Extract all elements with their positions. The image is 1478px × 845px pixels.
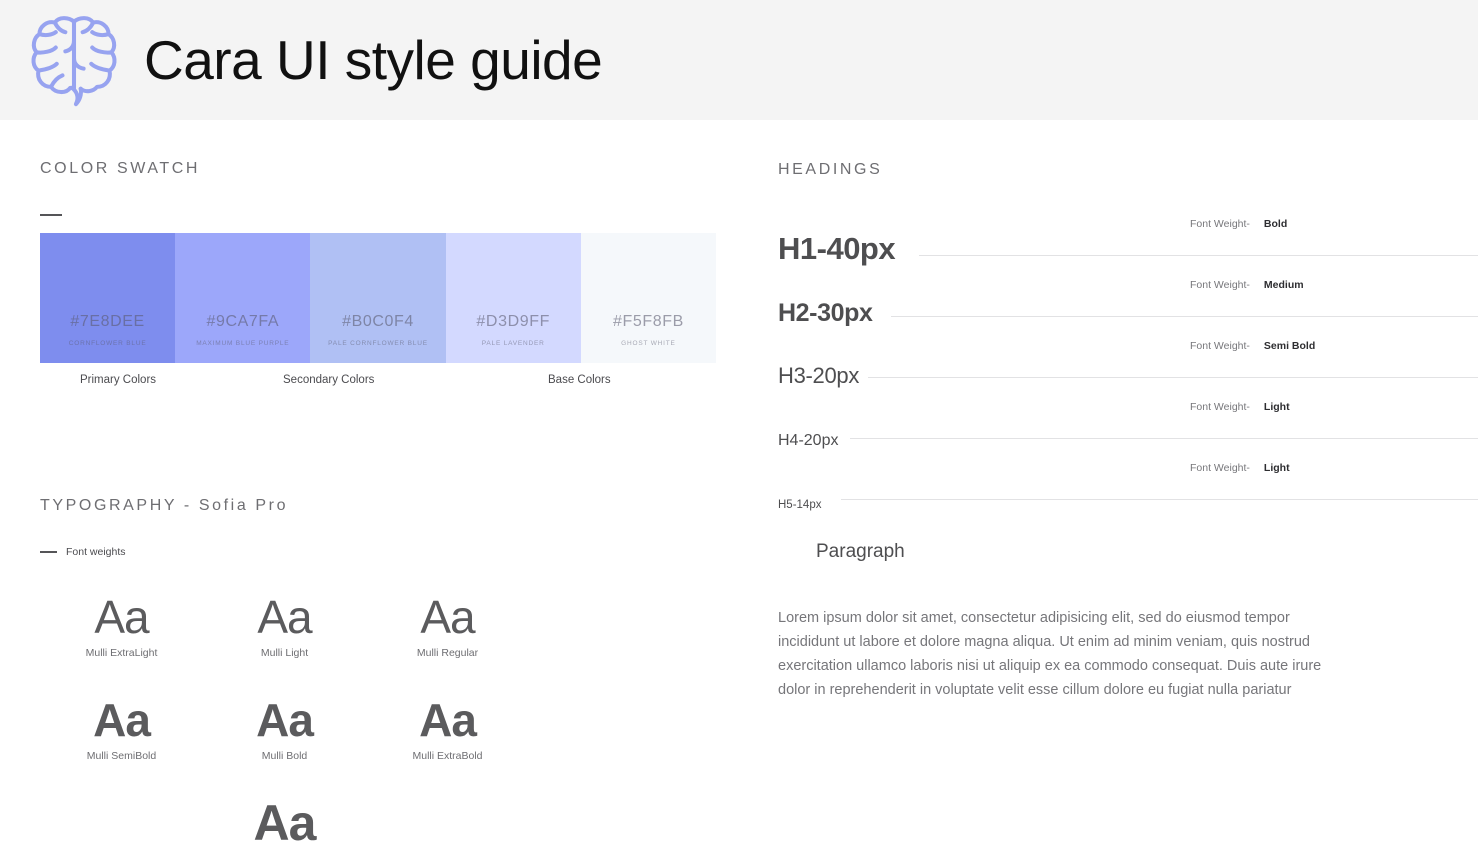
page-title: Cara UI style guide <box>144 33 602 88</box>
heading-row: H5-14px Font Weight- Light <box>778 454 1478 515</box>
font-weight-key: Font Weight- <box>1190 401 1250 413</box>
typography-section: TYPOGRAPHY - Sofia Pro Font weights Aa M… <box>40 497 680 845</box>
font-specimen-grid: Aa Mulli ExtraLight Aa Mulli Light Aa Mu… <box>40 582 680 845</box>
heading-label: H2-30px <box>778 299 872 328</box>
heading-weight-meta: Font Weight- Bold <box>1190 218 1287 230</box>
color-group-labels: Primary Colors Secondary Colors Base Col… <box>40 374 716 400</box>
specimen-sample: Aa <box>40 594 203 641</box>
typography-title: TYPOGRAPHY - Sofia Pro <box>40 497 680 515</box>
font-specimen-row: Aa Mulli SemiBold Aa Mulli Bold Aa Mulli… <box>40 685 680 762</box>
color-group-label: Primary Colors <box>80 374 156 386</box>
font-weight-key: Font Weight- <box>1190 462 1250 474</box>
heading-row: H4-20px Font Weight- Light <box>778 393 1478 454</box>
color-group-label: Base Colors <box>548 374 611 386</box>
color-swatch-section: COLOR SWATCH #7E8DEE CORNFLOWER BLUE #9C… <box>40 160 716 400</box>
font-weights-legend: Font weights <box>40 546 680 558</box>
swatch-color-name: PALE CORNFLOWER BLUE <box>328 340 428 347</box>
specimen-label: Mulli SemiBold <box>40 750 203 762</box>
font-weight-value: Light <box>1264 462 1290 474</box>
heading-divider <box>919 255 1478 256</box>
font-specimen: Aa Mulli SemiBold <box>40 685 203 762</box>
heading-divider <box>850 438 1478 439</box>
specimen-label: Mulli Regular <box>366 647 529 659</box>
heading-weight-meta: Font Weight- Light <box>1190 462 1290 474</box>
section-dash <box>40 214 62 216</box>
legend-dash <box>40 551 57 553</box>
heading-label: H1-40px <box>778 231 895 267</box>
specimen-label: Mulli ExtraLight <box>40 647 203 659</box>
font-specimen: Aa Mulli ExtraLight <box>40 582 203 659</box>
left-column: COLOR SWATCH #7E8DEE CORNFLOWER BLUE #9C… <box>0 120 770 845</box>
swatch-hex-value: #7E8DEE <box>70 313 144 331</box>
heading-divider <box>868 377 1478 378</box>
specimen-sample: Aa <box>203 798 366 845</box>
font-weights-label: Font weights <box>66 546 126 558</box>
right-column: HEADINGS H1-40px Font Weight- Bold H2-30… <box>770 120 1478 845</box>
font-specimen: Aa Mulli Regular <box>366 582 529 659</box>
heading-weight-meta: Font Weight- Light <box>1190 401 1290 413</box>
specimen-sample: Aa <box>203 594 366 641</box>
specimen-label: Mulli Bold <box>203 750 366 762</box>
headings-section: HEADINGS H1-40px Font Weight- Bold H2-30… <box>778 161 1478 515</box>
color-swatch-item[interactable]: #7E8DEE CORNFLOWER BLUE <box>40 233 175 363</box>
swatch-hex-value: #B0C0F4 <box>342 313 414 331</box>
color-swatch-title: COLOR SWATCH <box>40 160 716 178</box>
heading-row: H3-20px Font Weight- Semi Bold <box>778 332 1478 393</box>
swatch-hex-value: #D3D9FF <box>476 313 550 331</box>
font-weight-key: Font Weight- <box>1190 279 1250 291</box>
color-swatch-item[interactable]: #D3D9FF PALE LAVENDER <box>446 233 581 363</box>
specimen-sample: Aa <box>40 697 203 744</box>
specimen-sample: Aa <box>366 594 529 641</box>
specimen-label: Mulli Light <box>203 647 366 659</box>
font-specimen: Aa Mulli ExtraBold <box>366 685 529 762</box>
heading-weight-meta: Font Weight- Semi Bold <box>1190 340 1315 352</box>
paragraph-body: Lorem ipsum dolor sit amet, consectetur … <box>778 606 1330 702</box>
font-weight-value: Semi Bold <box>1264 340 1315 352</box>
brain-icon <box>26 12 122 108</box>
heading-label: H4-20px <box>778 432 838 450</box>
font-weight-key: Font Weight- <box>1190 340 1250 352</box>
page-header: Cara UI style guide <box>0 0 1478 120</box>
font-specimen: Aa Mulli Bold <box>203 685 366 762</box>
heading-label: H5-14px <box>778 499 821 511</box>
heading-divider <box>841 499 1478 500</box>
font-weight-key: Font Weight- <box>1190 218 1250 230</box>
swatch-color-name: CORNFLOWER BLUE <box>69 340 147 347</box>
swatch-hex-value: #9CA7FA <box>206 313 279 331</box>
heading-label: H3-20px <box>778 363 859 389</box>
page-body: COLOR SWATCH #7E8DEE CORNFLOWER BLUE #9C… <box>0 120 1478 845</box>
heading-row: H2-30px Font Weight- Medium <box>778 271 1478 332</box>
heading-divider <box>891 316 1478 317</box>
swatch-color-name: PALE LAVENDER <box>482 340 545 347</box>
specimen-sample: Aa <box>203 697 366 744</box>
paragraph-section: Paragraph Lorem ipsum dolor sit amet, co… <box>778 541 1478 702</box>
font-specimen-row: Aa Mulli ExtraLight Aa Mulli Light Aa Mu… <box>40 582 680 659</box>
font-weight-value: Bold <box>1264 218 1287 230</box>
color-swatch-item[interactable]: #B0C0F4 PALE CORNFLOWER BLUE <box>310 233 445 363</box>
font-weight-value: Light <box>1264 401 1290 413</box>
font-specimen-row: Aa <box>40 786 680 845</box>
color-swatch-item[interactable]: #F5F8FB GHOST WHITE <box>581 233 716 363</box>
font-specimen: Aa Mulli Light <box>203 582 366 659</box>
color-swatch-row: #7E8DEE CORNFLOWER BLUE #9CA7FA MAXIMUM … <box>40 233 716 363</box>
heading-rows: H1-40px Font Weight- Bold H2-30px Font W… <box>778 210 1478 515</box>
paragraph-title: Paragraph <box>778 541 1478 563</box>
specimen-label: Mulli ExtraBold <box>366 750 529 762</box>
heading-row: H1-40px Font Weight- Bold <box>778 210 1478 271</box>
specimen-sample: Aa <box>366 697 529 744</box>
color-swatch-item[interactable]: #9CA7FA MAXIMUM BLUE PURPLE <box>175 233 310 363</box>
font-weight-value: Medium <box>1264 279 1304 291</box>
color-group-label: Secondary Colors <box>283 374 374 386</box>
headings-title: HEADINGS <box>778 161 1478 179</box>
swatch-color-name: GHOST WHITE <box>621 340 676 347</box>
swatch-color-name: MAXIMUM BLUE PURPLE <box>196 340 289 347</box>
swatch-hex-value: #F5F8FB <box>613 313 684 331</box>
heading-weight-meta: Font Weight- Medium <box>1190 279 1304 291</box>
font-specimen: Aa <box>203 786 366 845</box>
